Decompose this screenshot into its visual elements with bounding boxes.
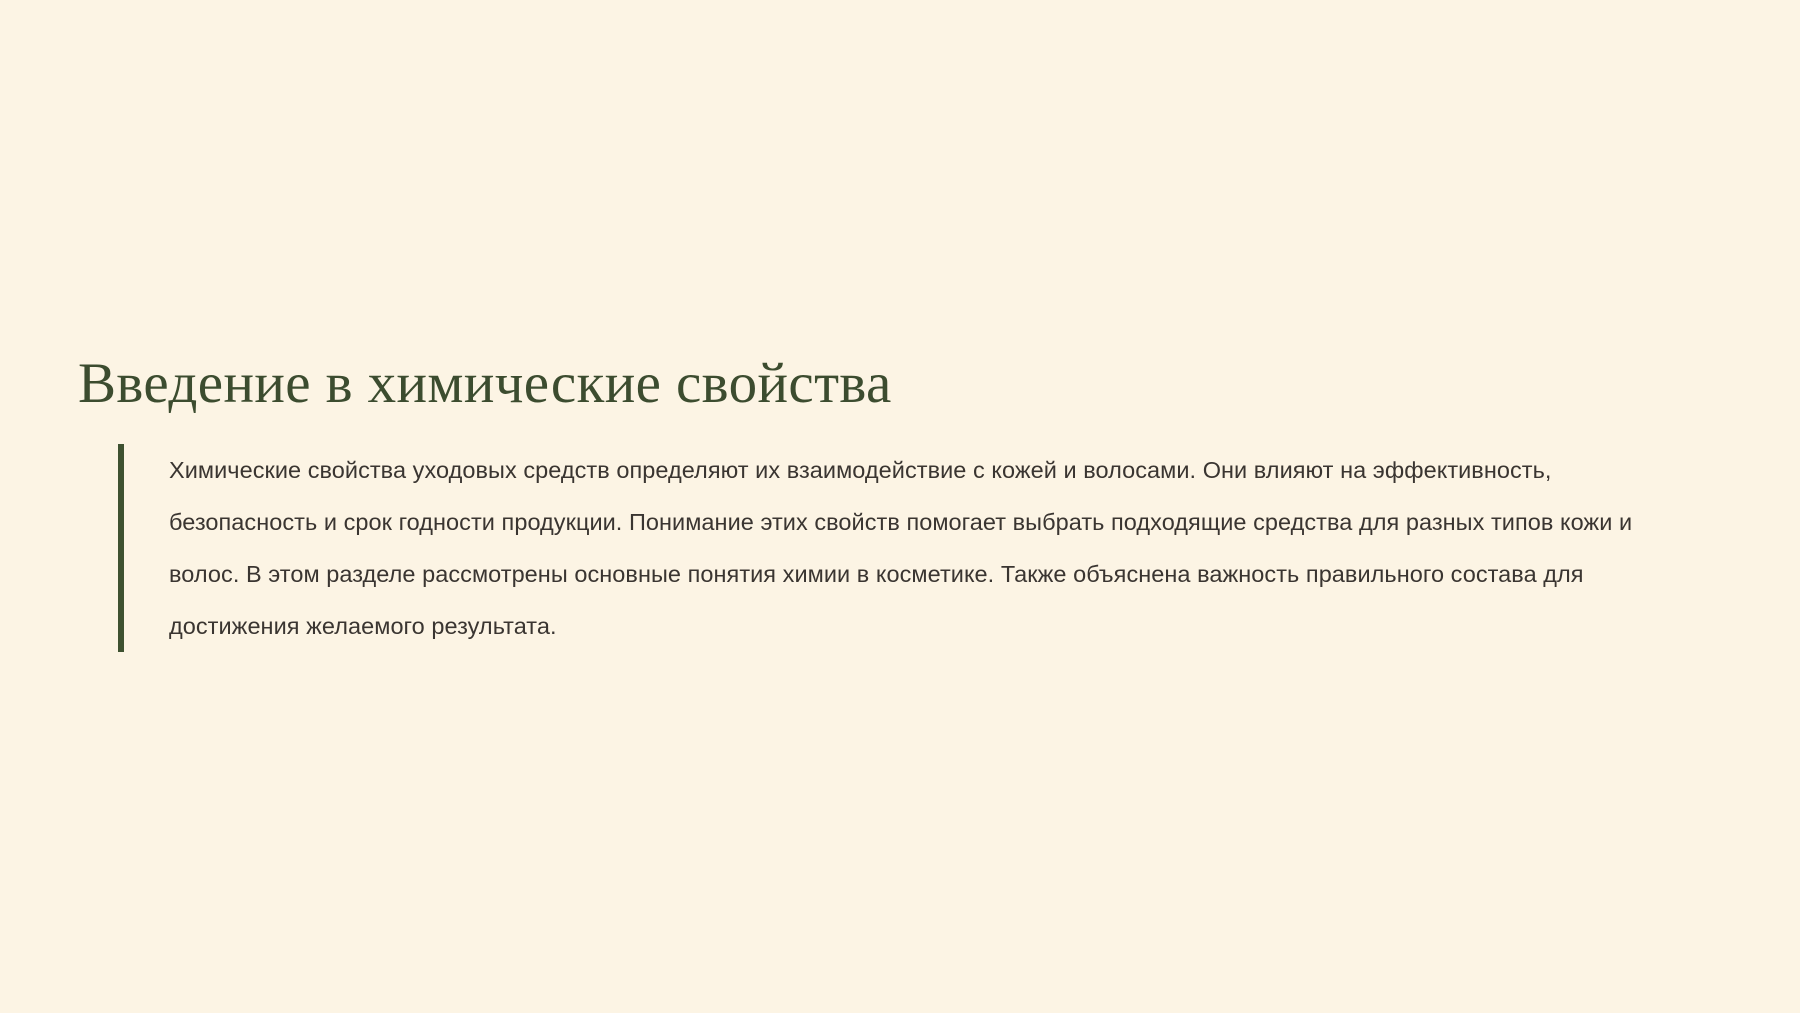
page-title: Введение в химические свойства bbox=[78, 352, 1718, 416]
intro-paragraph: Химические свойства уходовых средств опр… bbox=[169, 444, 1678, 652]
slide-canvas: Введение в химические свойства Химически… bbox=[0, 0, 1800, 1013]
intro-callout: Химические свойства уходовых средств опр… bbox=[118, 444, 1678, 652]
content-block: Введение в химические свойства Химически… bbox=[78, 352, 1718, 668]
